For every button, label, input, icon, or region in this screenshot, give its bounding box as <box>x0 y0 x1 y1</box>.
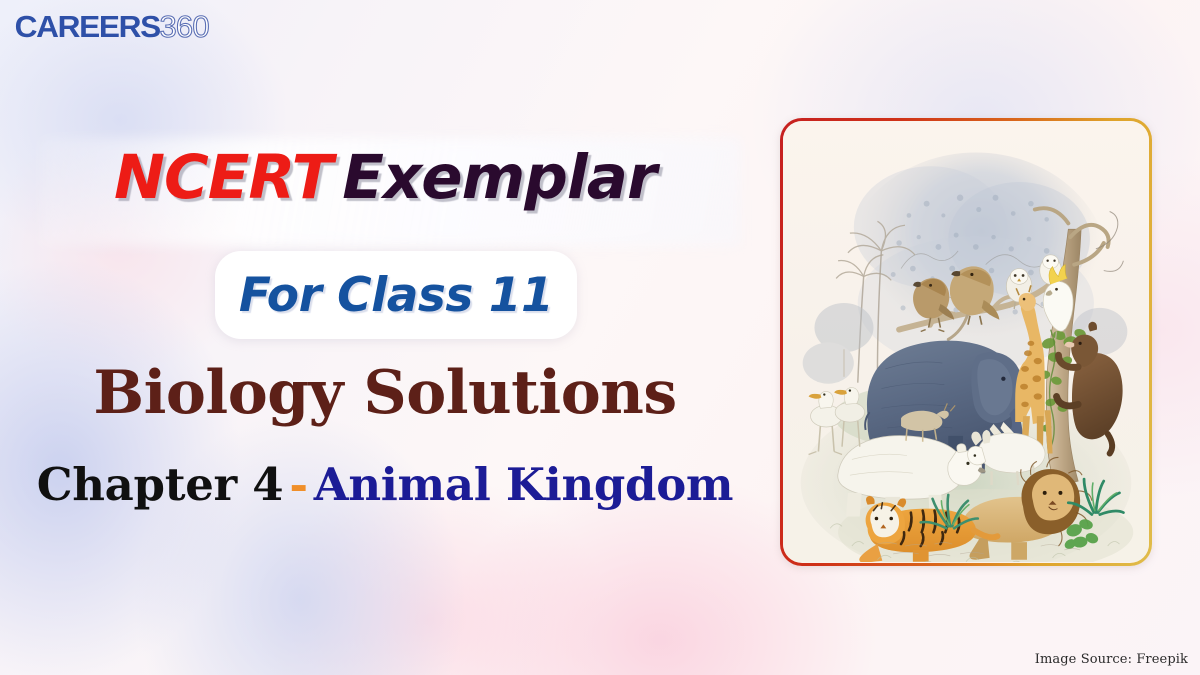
chapter-number-label: Chapter 4 <box>37 458 284 511</box>
class-badge: For Class 11 <box>215 251 577 339</box>
title-word-exemplar: Exemplar <box>342 142 656 213</box>
animal-kingdom-illustration <box>783 121 1149 562</box>
logo-word-careers: CAREERS <box>15 9 160 45</box>
title-word-ncert: NCERT <box>114 142 332 213</box>
illustration-frame <box>780 118 1152 566</box>
chapter-topic-label: Animal Kingdom <box>314 458 734 511</box>
banner-canvas: CAREERS 360 NCERTExemplar For Class 11 B… <box>0 0 1200 675</box>
chapter-separator: - <box>289 458 307 511</box>
image-source-credit: Image Source: Freepik <box>1035 652 1188 667</box>
chapter-title: Chapter 4-Animal Kingdom <box>0 458 770 511</box>
subject-title: Biology Solutions <box>0 358 770 428</box>
class-badge-label: For Class 11 <box>239 268 553 323</box>
title-ncert-exemplar: NCERTExemplar <box>0 142 770 213</box>
careers360-logo[interactable]: CAREERS 360 <box>16 9 209 45</box>
headline-block: NCERTExemplar For Class 11 Biology Solut… <box>0 118 770 558</box>
illustration-canvas <box>783 121 1149 563</box>
logo-word-360: 360 <box>159 9 208 45</box>
